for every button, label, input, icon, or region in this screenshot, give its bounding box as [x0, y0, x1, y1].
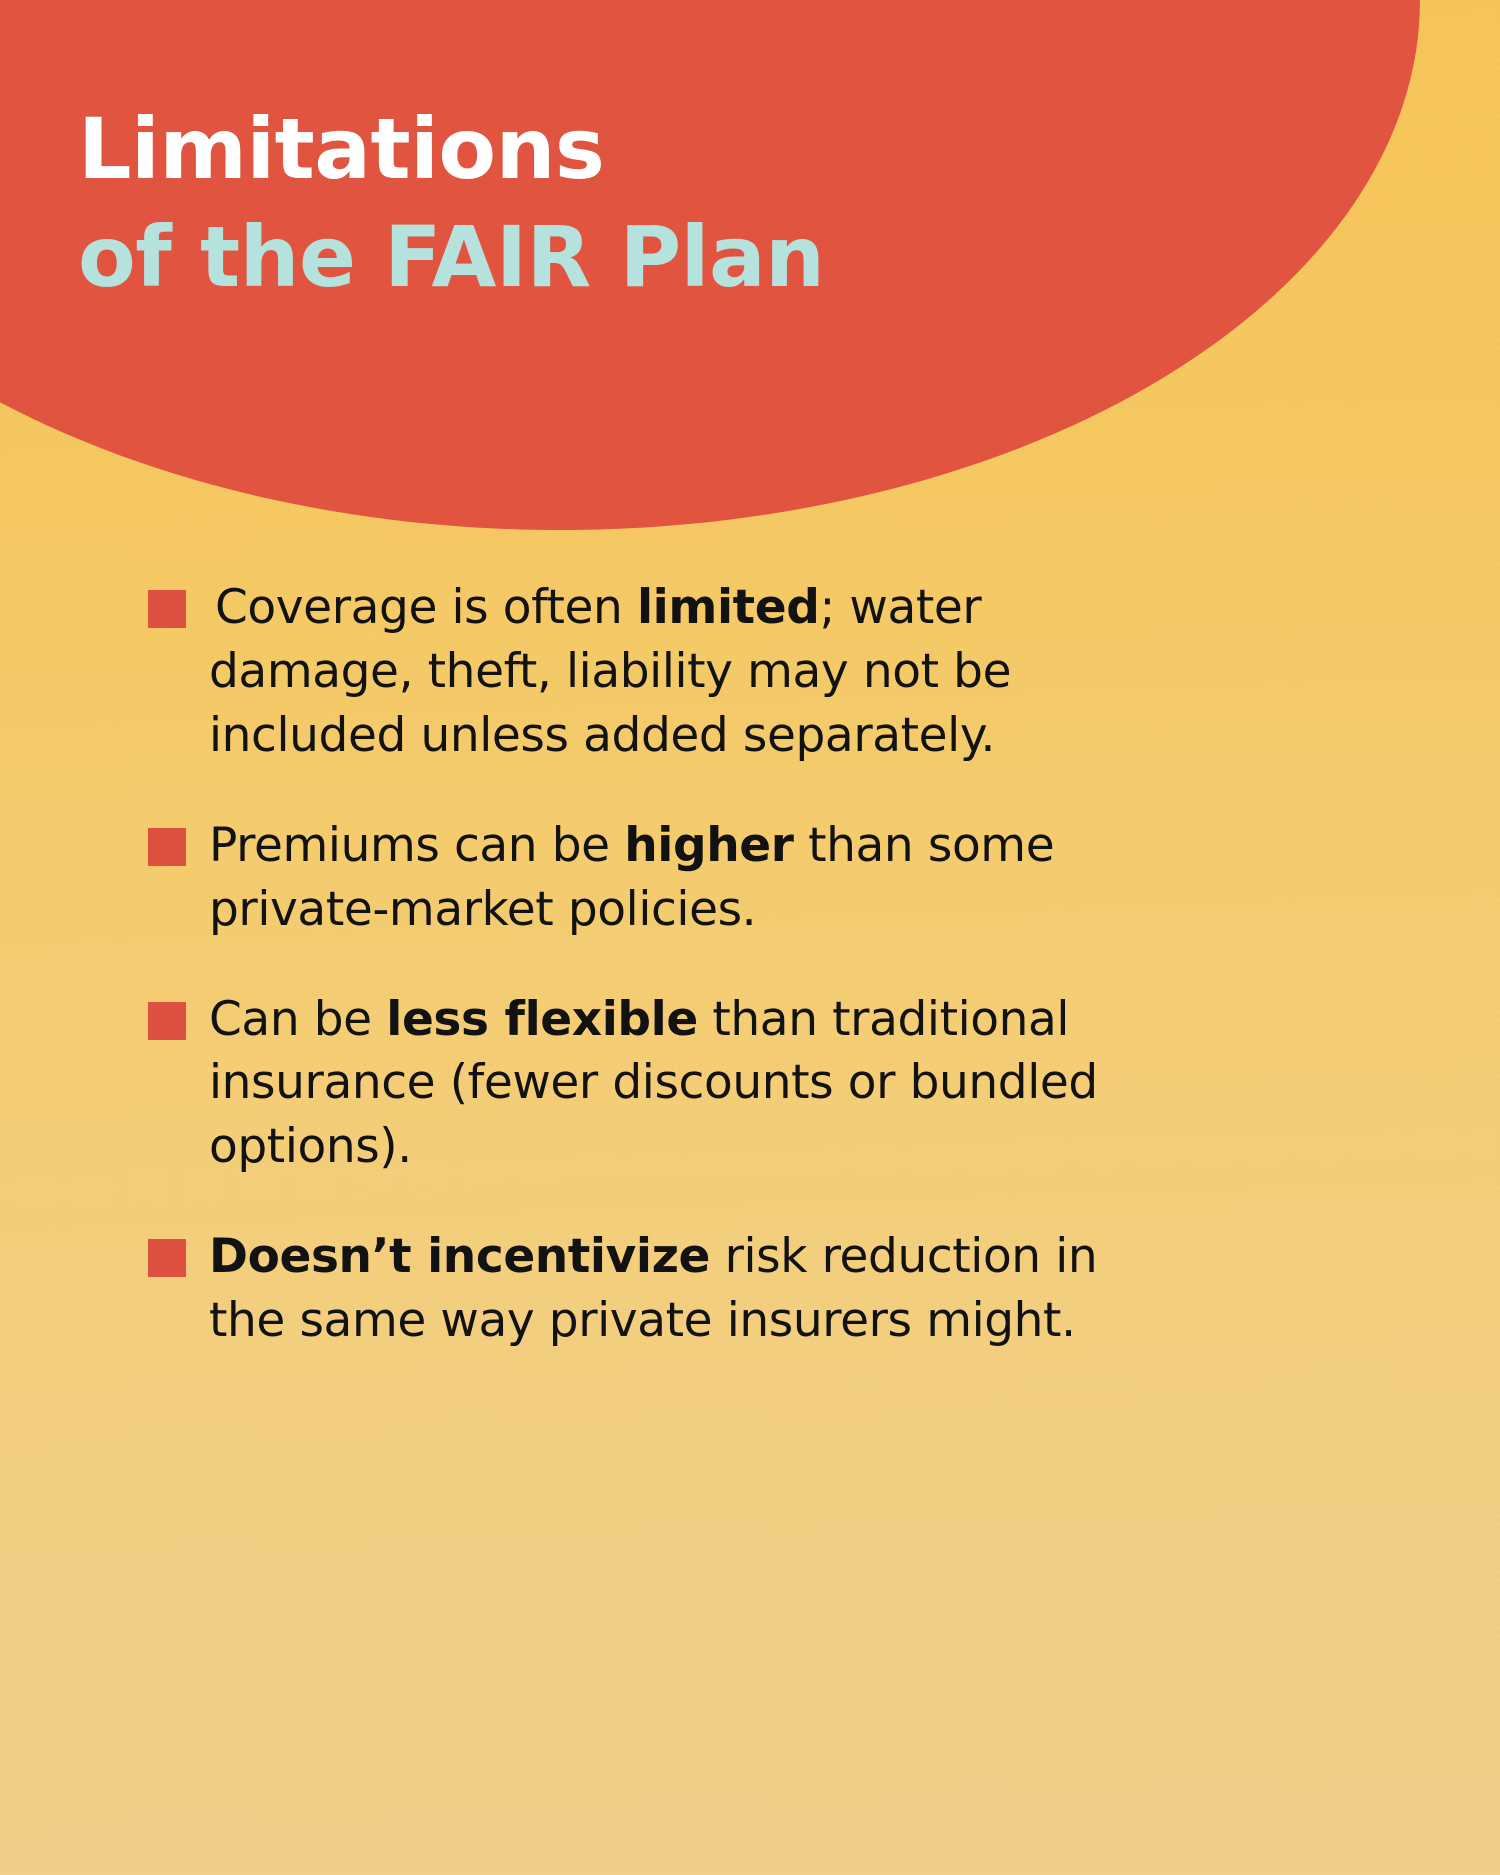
list-item-text: Doesn’t incentivize risk reduction in th… — [209, 1225, 1158, 1353]
emphasis-text: limited — [637, 580, 820, 635]
list-item: Doesn’t incentivize risk reduction in th… — [148, 1225, 1158, 1353]
list-item: Premiums can be higher than some private… — [148, 814, 1158, 942]
poster-header: Limitations of the FAIR Plan — [78, 96, 1078, 311]
square-bullet-icon — [148, 590, 186, 628]
body-text: Premiums can be — [209, 818, 624, 873]
square-bullet-icon — [148, 1002, 186, 1040]
page-title-fair-plan: FAIR Plan — [384, 208, 824, 306]
list-item-text: Can be less flexible than traditional in… — [209, 988, 1158, 1180]
square-bullet-icon — [148, 1239, 186, 1277]
list-item-text: Coverage is often limited; water damage,… — [209, 576, 1158, 768]
body-text: Coverage is often — [215, 580, 637, 635]
emphasis-text: higher — [624, 818, 793, 873]
list-item-text: Premiums can be higher than some private… — [209, 814, 1158, 942]
poster-canvas: Limitations of the FAIR Plan Coverage is… — [0, 0, 1500, 1875]
list-item: Coverage is often limited; water damage,… — [148, 576, 1158, 768]
page-title-line-1: Limitations — [78, 96, 1078, 204]
list-item: Can be less flexible than traditional in… — [148, 988, 1158, 1180]
page-title-line-2: of the FAIR Plan — [78, 204, 1078, 312]
limitations-list: Coverage is often limited; water damage,… — [148, 576, 1158, 1353]
page-title-prefix: of the — [78, 208, 384, 306]
square-bullet-icon — [148, 828, 186, 866]
emphasis-text: Doesn’t incentivize — [209, 1229, 710, 1284]
emphasis-text: less flexible — [386, 992, 698, 1047]
body-text: Can be — [209, 992, 386, 1047]
